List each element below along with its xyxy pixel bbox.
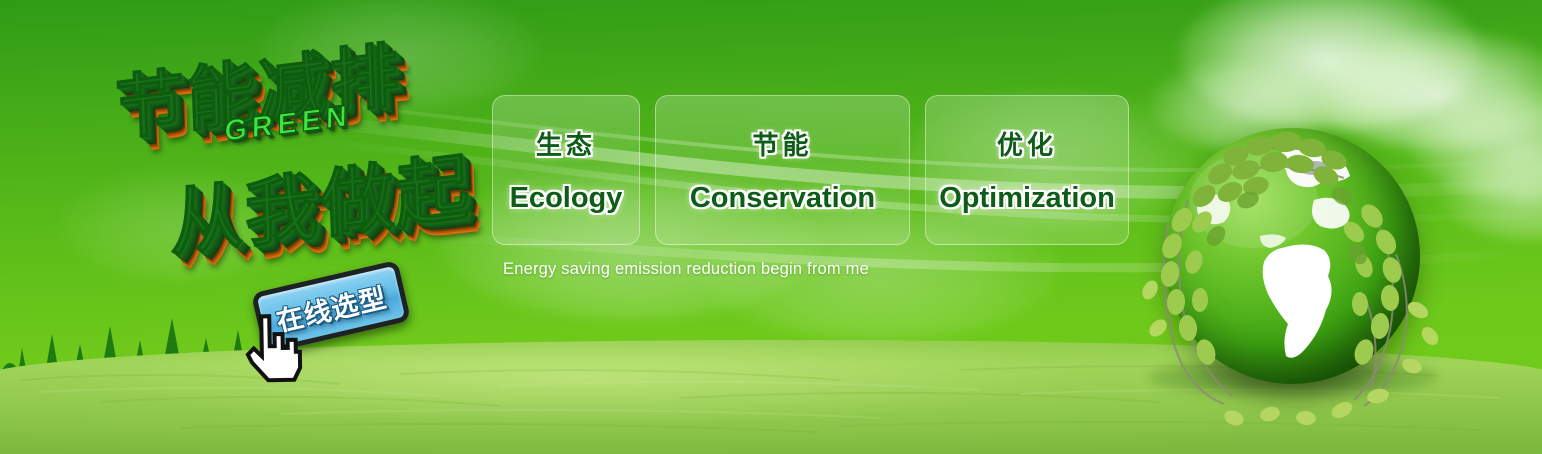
feature-card-list: 生态 Ecology 节能 Conservation 优化 Optimizati… bbox=[492, 95, 1129, 245]
feature-card-cn-label: 优化 bbox=[997, 125, 1057, 162]
feature-card-en-label: Optimization bbox=[939, 182, 1115, 215]
feature-card-optimization[interactable]: 优化 Optimization bbox=[925, 95, 1129, 245]
eco-slogan-3d-logo: 节能减排 GREEN 从我做起 bbox=[96, 34, 496, 269]
pointing-hand-cursor-icon bbox=[241, 312, 304, 385]
eco-promo-banner: 节能减排 GREEN 从我做起 在线选型 生态 Ecology 节能 Conse… bbox=[0, 0, 1542, 454]
feature-card-cn-label: 节能 bbox=[752, 125, 812, 162]
feature-card-ecology[interactable]: 生态 Ecology bbox=[492, 95, 640, 245]
feature-card-en-label: Ecology bbox=[510, 182, 623, 215]
banner-tagline: Energy saving emission reduction begin f… bbox=[503, 260, 869, 279]
logo-line-bottom: 从我做起 bbox=[167, 127, 472, 271]
feature-card-en-label: Conservation bbox=[690, 182, 875, 215]
feature-card-conservation[interactable]: 节能 Conservation bbox=[655, 95, 910, 245]
globe-vines-icon bbox=[1128, 104, 1468, 444]
feature-card-cn-label: 生态 bbox=[536, 125, 596, 162]
green-leafy-globe-icon bbox=[1128, 104, 1468, 444]
